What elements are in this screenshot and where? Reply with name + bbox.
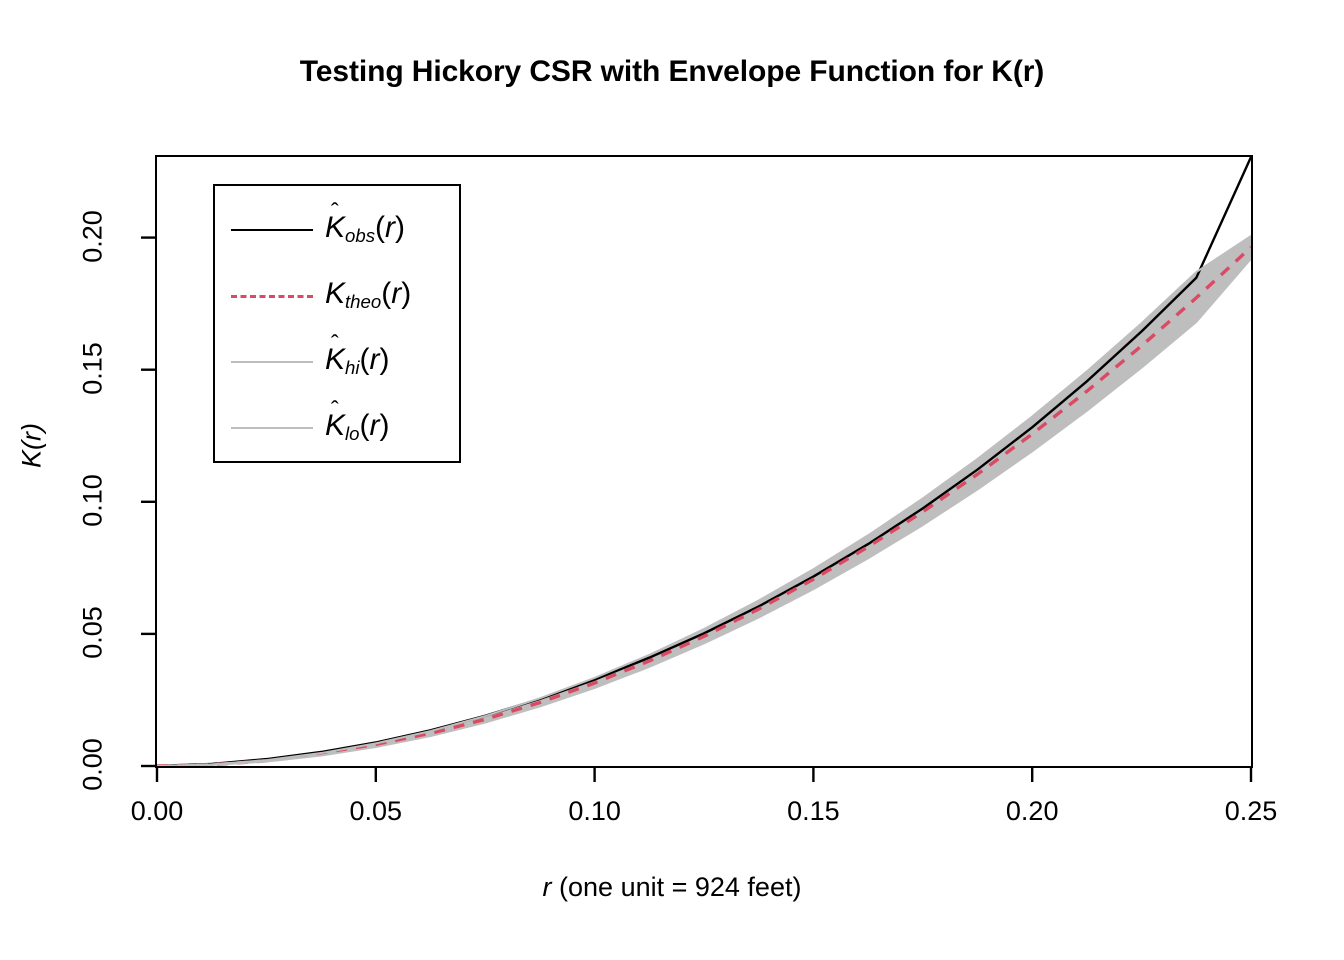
legend-item-k-obs[interactable]: Kˆobs(r) — [215, 194, 463, 264]
y-tick-label: 0.05 — [78, 572, 109, 692]
math-subscript: hi — [345, 357, 359, 378]
hat-accent-icon: ˆ — [331, 398, 339, 421]
x-tick-label: 0.25 — [1191, 796, 1311, 827]
hat-accent-icon: ˆ — [331, 332, 339, 355]
y-tick-label: 0.15 — [78, 308, 109, 428]
y-axis-label: K(r) — [17, 386, 48, 506]
legend-line-sample — [229, 349, 315, 373]
x-axis-label: r (one unit = 924 feet) — [0, 872, 1344, 903]
legend-item-k-theo[interactable]: Ktheo(r) — [215, 260, 463, 330]
math-symbol-K: Kˆ — [325, 345, 345, 375]
math-argument: (r) — [381, 277, 411, 310]
math-argument: (r) — [360, 409, 390, 442]
x-tick-label: 0.15 — [753, 796, 873, 827]
math-symbol-K: K — [325, 279, 345, 309]
x-axis-label-var: r — [543, 872, 552, 902]
legend-item-label: Kˆhi(r) — [315, 345, 463, 378]
x-tick-label: 0.20 — [972, 796, 1092, 827]
y-tick-label: 0.20 — [78, 176, 109, 296]
hat-accent-icon: ˆ — [331, 200, 339, 223]
y-tick-label: 0.10 — [78, 440, 109, 560]
math-symbol-K: Kˆ — [325, 213, 345, 243]
math-argument: (r) — [375, 211, 405, 244]
legend-item-label: Kˆlo(r) — [315, 411, 463, 444]
math-subscript: obs — [345, 225, 375, 246]
legend-line-sample — [229, 415, 315, 439]
legend-item-k-lo[interactable]: Kˆlo(r) — [215, 392, 463, 462]
math-symbol-K: Kˆ — [325, 411, 345, 441]
x-tick-label: 0.00 — [97, 796, 217, 827]
math-subscript: lo — [345, 423, 359, 444]
legend-line-sample — [229, 283, 315, 307]
legend: Kˆobs(r)Ktheo(r)Kˆhi(r)Kˆlo(r) — [213, 184, 461, 463]
x-tick-label: 0.05 — [316, 796, 436, 827]
math-subscript: theo — [345, 291, 381, 312]
x-tick-label: 0.10 — [535, 796, 655, 827]
legend-item-label: Ktheo(r) — [315, 279, 463, 312]
y-tick-label: 0.00 — [78, 705, 109, 825]
x-axis-label-rest: (one unit = 924 feet) — [552, 872, 802, 902]
legend-item-k-hi[interactable]: Kˆhi(r) — [215, 326, 463, 396]
legend-line-sample — [229, 217, 315, 241]
legend-item-label: Kˆobs(r) — [315, 213, 463, 246]
math-argument: (r) — [360, 343, 390, 376]
